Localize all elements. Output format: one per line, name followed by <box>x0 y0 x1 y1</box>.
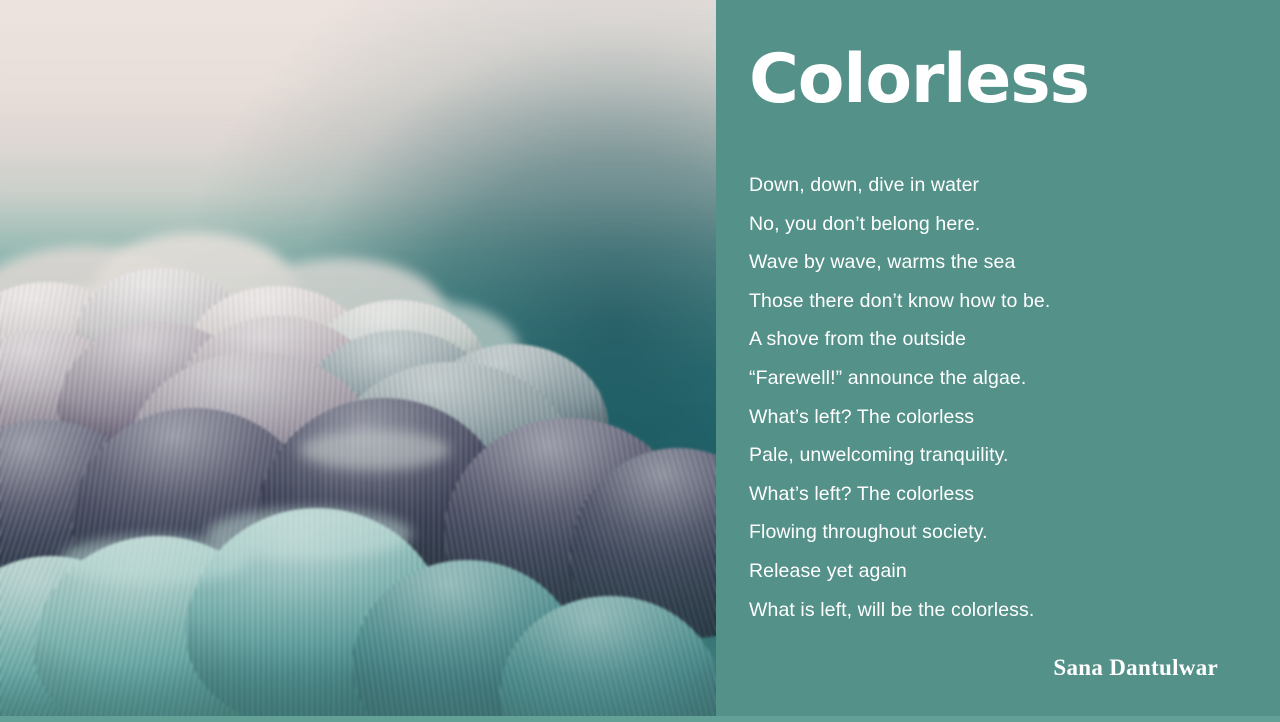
slide-canvas: Colorless Down, down, dive in water No, … <box>0 0 1280 722</box>
poem-line: Those there don’t know how to be. <box>749 282 1219 321</box>
poem-line: “Farewell!” announce the algae. <box>749 359 1219 398</box>
poem-line: Pale, unwelcoming tranquility. <box>749 436 1219 475</box>
text-column: Colorless Down, down, dive in water No, … <box>749 0 1249 722</box>
poem-line: A shove from the outside <box>749 320 1219 359</box>
page-title: Colorless <box>749 46 1089 114</box>
poem-line: What’s left? The colorless <box>749 475 1219 514</box>
photo-inner <box>0 0 716 716</box>
poem-line: No, you don’t belong here. <box>749 205 1219 244</box>
poem-line: Wave by wave, warms the sea <box>749 243 1219 282</box>
coral-photograph <box>0 0 716 716</box>
poem-line: What’s left? The colorless <box>749 398 1219 437</box>
poem-line: Down, down, dive in water <box>749 166 1219 205</box>
poem-body: Down, down, dive in water No, you don’t … <box>749 166 1219 629</box>
author-credit: Sana Dantulwar <box>1053 655 1218 681</box>
poem-line: Release yet again <box>749 552 1219 591</box>
bottom-edge-strip <box>0 716 1280 722</box>
photo-haze-overlay <box>0 0 716 716</box>
poem-line: Flowing throughout society. <box>749 513 1219 552</box>
poem-line: What is left, will be the colorless. <box>749 591 1219 630</box>
